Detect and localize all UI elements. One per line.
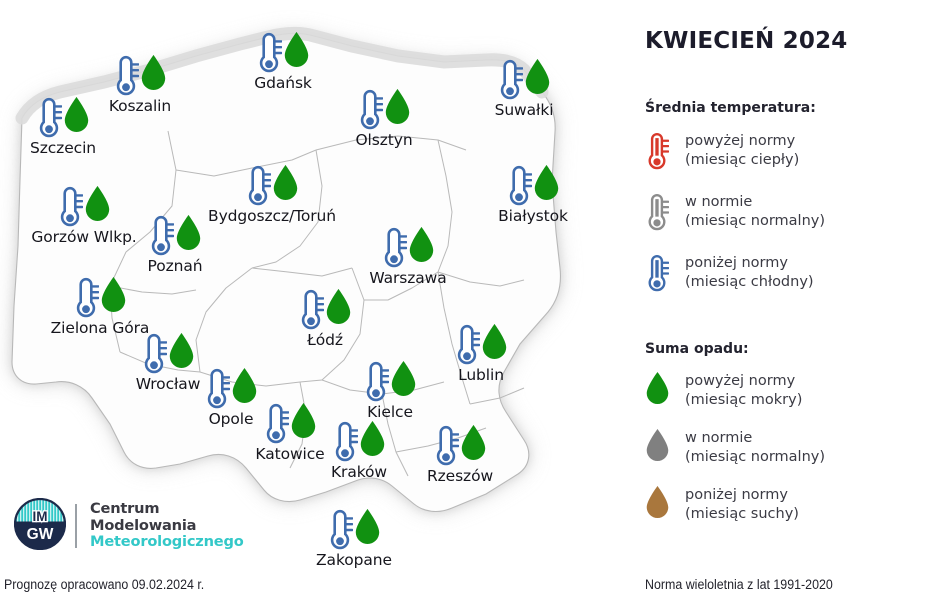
- thermometer-icon-red: [645, 131, 685, 172]
- droplet-icon: [460, 424, 487, 461]
- station-icons: [454, 323, 508, 367]
- thermometer-icon: [148, 214, 174, 258]
- station-icons: [245, 164, 299, 208]
- city-label: Poznań: [148, 257, 203, 275]
- logo-line-3: Meteorologicznego: [90, 534, 244, 551]
- city-label: Kraków: [331, 463, 387, 481]
- legend-line-2: (miesiąc normalny): [685, 448, 825, 467]
- city-label: Suwałki: [495, 101, 554, 119]
- station-marker: Białystok: [506, 164, 560, 208]
- station-marker: Zielona Góra: [73, 276, 127, 320]
- logo-mark-bottom: GW: [27, 526, 54, 543]
- station-marker: Gorzów Wlkp.: [57, 185, 111, 229]
- legend-item-text: powyżej normy (miesiąc ciepły): [685, 131, 799, 170]
- station-marker: Suwałki: [497, 58, 551, 102]
- thermometer-icon: [204, 367, 230, 411]
- page-title: KWIECIEŃ 2024: [645, 28, 847, 54]
- city-label: Rzeszów: [427, 467, 493, 485]
- station-marker: Gdańsk: [256, 31, 310, 75]
- city-label: Warszawa: [369, 269, 446, 287]
- station-icons: [381, 226, 435, 270]
- droplet-icon: [645, 428, 670, 462]
- legend-panel: KWIECIEŃ 2024 Średnia temperatura: powyż…: [640, 0, 930, 598]
- thermometer-icon: [73, 276, 99, 320]
- imgw-logo: IM GW Centrum Modelowania Meteorologiczn…: [14, 498, 244, 554]
- legend-line-1: w normie: [685, 430, 752, 446]
- legend-item: powyżej normy (miesiąc mokry): [645, 371, 802, 410]
- station-icons: [73, 276, 127, 320]
- droplet-icon: [408, 226, 435, 263]
- legend-item: w normie (miesiąc normalny): [645, 192, 825, 233]
- droplet-icon: [175, 214, 202, 251]
- station-marker: Wrocław: [141, 332, 195, 376]
- legend-line-1: w normie: [685, 194, 752, 210]
- station-marker: Lublin: [454, 323, 508, 367]
- thermometer-icon: [645, 253, 669, 294]
- thermometer-icon: [363, 360, 389, 404]
- legend-item-text: powyżej normy (miesiąc mokry): [685, 371, 802, 410]
- legend-item: w normie (miesiąc normalny): [645, 428, 825, 467]
- thermometer-icon: [263, 402, 289, 446]
- droplet-icon: [168, 332, 195, 369]
- legend-line-1: powyżej normy: [685, 133, 795, 149]
- logo-divider: [75, 504, 77, 548]
- city-label: Białystok: [498, 207, 568, 225]
- station-marker: Koszalin: [113, 54, 167, 98]
- legend-line-1: poniżej normy: [685, 487, 788, 503]
- city-label: Koszalin: [109, 97, 171, 115]
- droplet-icon: [325, 288, 352, 325]
- legend-line-2: (miesiąc suchy): [685, 505, 799, 524]
- legend-line-2: (miesiąc mokry): [685, 391, 802, 410]
- station-icons: [141, 332, 195, 376]
- city-label: Szczecin: [30, 139, 96, 157]
- station-icons: [506, 164, 560, 208]
- droplet-icon: [524, 58, 551, 95]
- station-icons: [204, 367, 258, 411]
- thermometer-icon: [454, 323, 480, 367]
- droplet-icon-brown: [645, 485, 685, 519]
- droplet-icon: [481, 323, 508, 360]
- legend-item: poniżej normy (miesiąc chłodny): [645, 253, 814, 294]
- station-icons: [263, 402, 317, 446]
- thermometer-icon-gray: [645, 192, 685, 233]
- city-label: Łódź: [307, 331, 343, 349]
- forecast-date-note: Prognozę opracowano 09.02.2024 r.: [4, 577, 204, 592]
- logo-line-2: Modelowania: [90, 518, 244, 535]
- poland-map: Szczecin Koszalin Gdańsk: [0, 0, 630, 598]
- droplet-icon-gray: [645, 428, 685, 462]
- station-marker: Kielce: [363, 360, 417, 404]
- station-icons: [433, 424, 487, 468]
- legend-item-text: poniżej normy (miesiąc suchy): [685, 485, 799, 524]
- legend-line-1: poniżej normy: [685, 255, 788, 271]
- droplet-icon: [390, 360, 417, 397]
- city-label: Zielona Góra: [51, 319, 150, 337]
- station-marker: Zakopane: [327, 508, 381, 552]
- city-label: Gorzów Wlkp.: [31, 228, 136, 246]
- city-label: Bydgoszcz/Toruń: [208, 207, 336, 225]
- station-marker: Bydgoszcz/Toruń: [245, 164, 299, 208]
- station-marker: Szczecin: [36, 96, 90, 140]
- precipitation-legend-heading: Suma opadu:: [645, 341, 749, 357]
- weather-forecast-map-page: Szczecin Koszalin Gdańsk: [0, 0, 930, 598]
- thermometer-icon: [357, 88, 383, 132]
- droplet-icon: [140, 54, 167, 91]
- thermometer-icon: [245, 164, 271, 208]
- droplet-icon: [359, 420, 386, 457]
- droplet-icon-green: [645, 371, 685, 405]
- city-label: Olsztyn: [355, 131, 412, 149]
- imgw-badge-icon: IM GW: [14, 498, 66, 554]
- droplet-icon: [63, 96, 90, 133]
- thermometer-icon: [141, 332, 167, 376]
- legend-item: powyżej normy (miesiąc ciepły): [645, 131, 799, 172]
- thermometer-icon: [298, 288, 324, 332]
- thermometer-icon: [645, 131, 669, 172]
- station-marker: Olsztyn: [357, 88, 411, 132]
- station-marker: Warszawa: [381, 226, 435, 270]
- legend-item-text: w normie (miesiąc normalny): [685, 192, 825, 231]
- thermometer-icon: [113, 54, 139, 98]
- legend-line-1: powyżej normy: [685, 373, 795, 389]
- thermometer-icon: [57, 185, 83, 229]
- thermometer-icon: [506, 164, 532, 208]
- droplet-icon: [290, 402, 317, 439]
- station-icons: [36, 96, 90, 140]
- station-icons: [497, 58, 551, 102]
- station-icons: [357, 88, 411, 132]
- droplet-icon: [100, 276, 127, 313]
- norm-period-note: Norma wieloletnia z lat 1991-2020: [645, 577, 833, 592]
- thermometer-icon: [381, 226, 407, 270]
- logo-mark-top: IM: [33, 509, 48, 524]
- logo-wordmark: Centrum Modelowania Meteorologicznego: [90, 501, 244, 551]
- droplet-icon: [645, 485, 670, 519]
- station-marker: Kraków: [332, 420, 386, 464]
- droplet-icon: [533, 164, 560, 201]
- thermometer-icon-blue: [645, 253, 685, 294]
- station-icons: [298, 288, 352, 332]
- station-icons: [57, 185, 111, 229]
- thermometer-icon: [256, 31, 282, 75]
- city-label: Zakopane: [316, 551, 392, 569]
- legend-item: poniżej normy (miesiąc suchy): [645, 485, 799, 524]
- station-marker: Łódź: [298, 288, 352, 332]
- droplet-icon: [384, 88, 411, 125]
- city-label: Katowice: [255, 445, 324, 463]
- city-label: Wrocław: [136, 375, 201, 393]
- thermometer-icon: [497, 58, 523, 102]
- station-icons: [148, 214, 202, 258]
- city-label: Opole: [209, 410, 254, 428]
- station-icons: [332, 420, 386, 464]
- legend-line-2: (miesiąc chłodny): [685, 273, 814, 292]
- droplet-icon: [231, 367, 258, 404]
- droplet-icon: [645, 371, 670, 405]
- city-label: Kielce: [367, 403, 413, 421]
- droplet-icon: [283, 31, 310, 68]
- city-label: Gdańsk: [254, 74, 312, 92]
- station-icons: [363, 360, 417, 404]
- droplet-icon: [354, 508, 381, 545]
- legend-line-2: (miesiąc normalny): [685, 212, 825, 231]
- logo-line-1: Centrum: [90, 501, 244, 518]
- thermometer-icon: [332, 420, 358, 464]
- station-marker: Katowice: [263, 402, 317, 446]
- station-icons: [256, 31, 310, 75]
- thermometer-icon: [327, 508, 353, 552]
- droplet-icon: [272, 164, 299, 201]
- station-icons: [327, 508, 381, 552]
- droplet-icon: [84, 185, 111, 222]
- station-icons: [113, 54, 167, 98]
- station-marker: Poznań: [148, 214, 202, 258]
- legend-item-text: w normie (miesiąc normalny): [685, 428, 825, 467]
- thermometer-icon: [433, 424, 459, 468]
- legend-item-text: poniżej normy (miesiąc chłodny): [685, 253, 814, 292]
- thermometer-icon: [36, 96, 62, 140]
- temperature-legend-heading: Średnia temperatura:: [645, 100, 816, 116]
- legend-line-2: (miesiąc ciepły): [685, 151, 799, 170]
- station-marker: Opole: [204, 367, 258, 411]
- thermometer-icon: [645, 192, 669, 233]
- city-label: Lublin: [458, 366, 504, 384]
- station-marker: Rzeszów: [433, 424, 487, 468]
